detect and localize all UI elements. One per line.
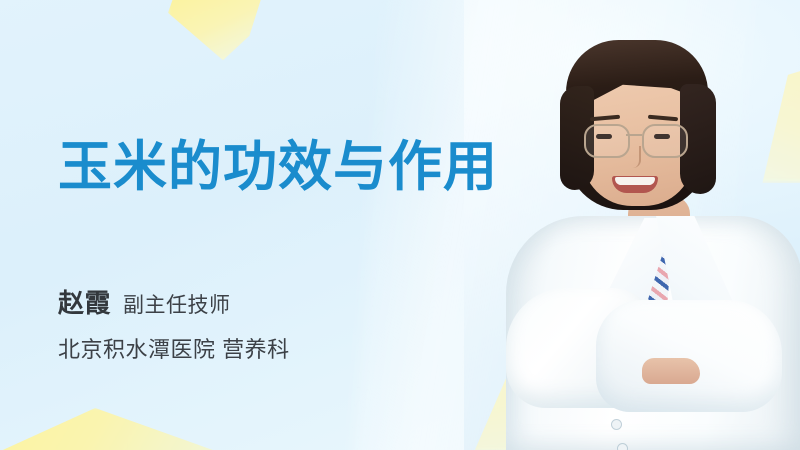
- presenter-affiliation: 北京积水潭医院 营养科: [58, 332, 290, 364]
- portrait-coat-button: [618, 444, 627, 450]
- portrait-nose: [630, 146, 641, 168]
- portrait-hand: [642, 358, 700, 384]
- glasses-lens-right-icon: [642, 124, 688, 158]
- page-title: 玉米的功效与作用: [58, 140, 498, 194]
- doctor-portrait: [500, 0, 800, 450]
- presenter-name: 赵霞: [58, 283, 111, 320]
- presenter-name-row: 赵霞 副主任技师: [58, 283, 290, 320]
- presenter-credit: 赵霞 副主任技师 北京积水潭医院 营养科: [58, 283, 290, 364]
- glasses-lens-left-icon: [584, 124, 630, 158]
- presenter-professional-title: 副主任技师: [123, 289, 231, 319]
- portrait-arm-right: [596, 300, 782, 412]
- glasses-bridge-icon: [626, 134, 642, 136]
- portrait-mouth: [612, 176, 658, 193]
- video-cover-slide: 玉米的功效与作用 赵霞 副主任技师 北京积水潭医院 营养科: [0, 0, 800, 450]
- portrait-teeth: [615, 177, 655, 185]
- portrait-coat-button: [612, 420, 621, 429]
